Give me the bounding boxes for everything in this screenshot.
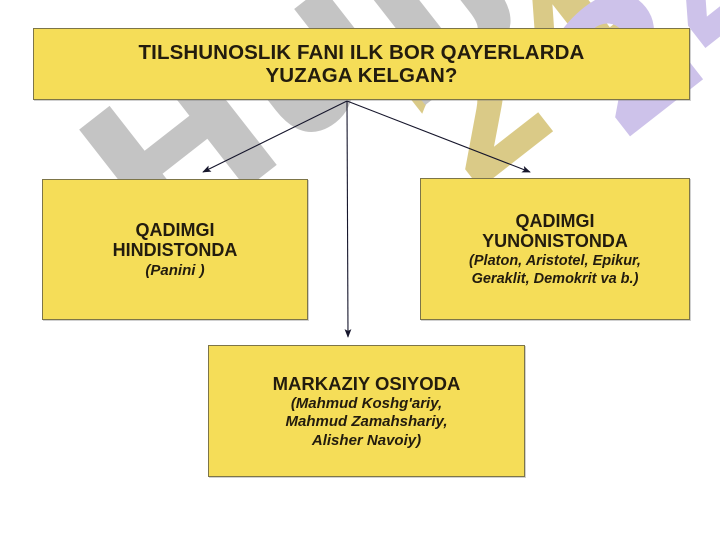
india-subtitle-line-1: (Panini ) — [145, 262, 204, 279]
question-line-1: TILSHUNOSLIK FANI ILK BOR QAYERLARDA — [139, 41, 585, 64]
central-asia-subtitle-line-1: (Mahmud Koshg'ariy, — [291, 395, 442, 412]
branch-box-central-asia: MARKAZIY OSIYODA (Mahmud Koshg'ariy, Mah… — [208, 345, 525, 477]
branch-box-india: QADIMGI HINDISTONDA (Panini ) — [42, 179, 308, 320]
greece-title-line-1: QADIMGI — [516, 211, 595, 232]
india-title-line-2: HINDISTONDA — [113, 240, 238, 261]
arrow-to-greece — [347, 101, 530, 172]
branch-box-greece: QADIMGI YUNONISTONDA (Platon, Aristotel,… — [420, 178, 690, 320]
arrow-to-india — [203, 101, 347, 172]
greece-subtitle-line-1: (Platon, Aristotel, Epikur, — [469, 253, 641, 270]
central-asia-subtitle-line-2: Mahmud Zamahshariy, — [286, 413, 448, 430]
question-box: TILSHUNOSLIK FANI ILK BOR QAYERLARDA YUZ… — [33, 28, 690, 100]
central-asia-subtitle-line-3: Alisher Navoiy) — [312, 432, 421, 449]
central-asia-title-line-1: MARKAZIY OSIYODA — [273, 373, 461, 394]
india-title-line-1: QADIMGI — [136, 220, 215, 241]
slide-canvas: 24 24 Hujjat TILSHUNOSLIK FANI ILK BOR Q… — [0, 0, 720, 540]
question-line-2: YUZAGA KELGAN? — [266, 64, 458, 87]
greece-subtitle-line-2: Geraklit, Demokrit va b.) — [472, 271, 639, 288]
arrow-to-central-asia — [347, 101, 348, 337]
greece-title-line-2: YUNONISTONDA — [482, 231, 628, 252]
